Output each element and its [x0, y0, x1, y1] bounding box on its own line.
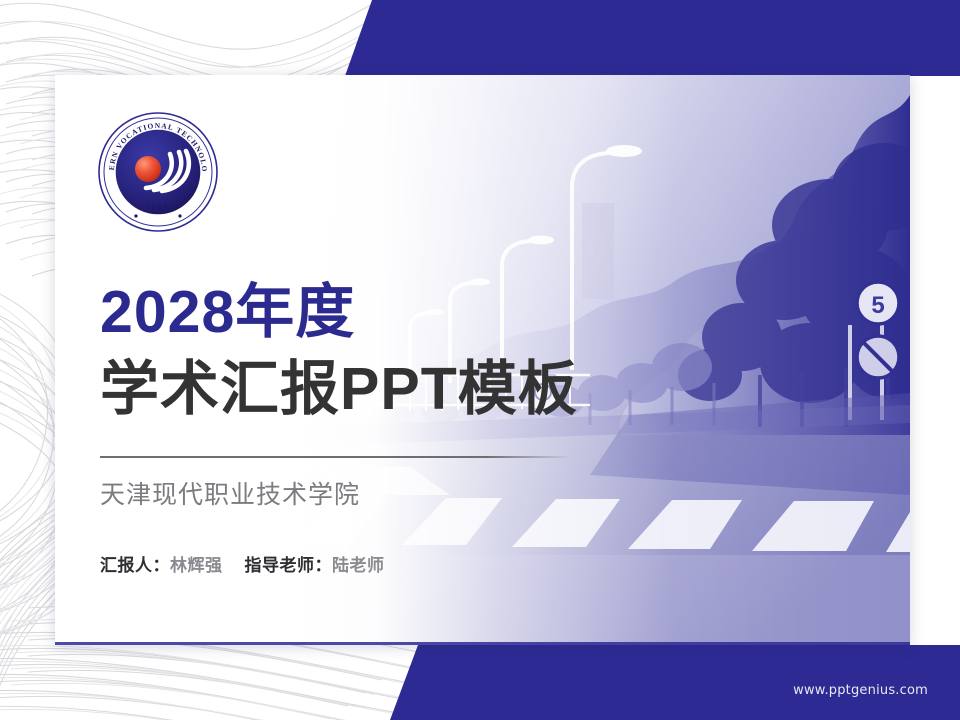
presenter-name: 林辉强 — [170, 556, 223, 575]
advisor-name: 陆老师 — [332, 556, 385, 575]
presenter-info: 汇报人：林辉强指导老师：陆老师 — [100, 551, 385, 576]
advisor-label: 指导老师： — [245, 556, 333, 575]
school-name: 天津现代职业技术学院 — [100, 475, 360, 511]
presenter-label: 汇报人： — [100, 556, 170, 575]
presentation-slide: 5 — [0, 0, 960, 720]
year-title: 2028年度 — [100, 283, 355, 342]
blue-shape-top-right — [345, 0, 960, 76]
main-title: 学术汇报PPT模板 — [100, 360, 578, 419]
college-logo: TIANJIN MODERN VOCATIONAL TECHNOLOGY COL… — [96, 110, 220, 234]
card-bottom-rule — [55, 642, 910, 645]
title-divider — [100, 456, 572, 458]
site-watermark: www.pptgenius.com — [793, 683, 928, 698]
